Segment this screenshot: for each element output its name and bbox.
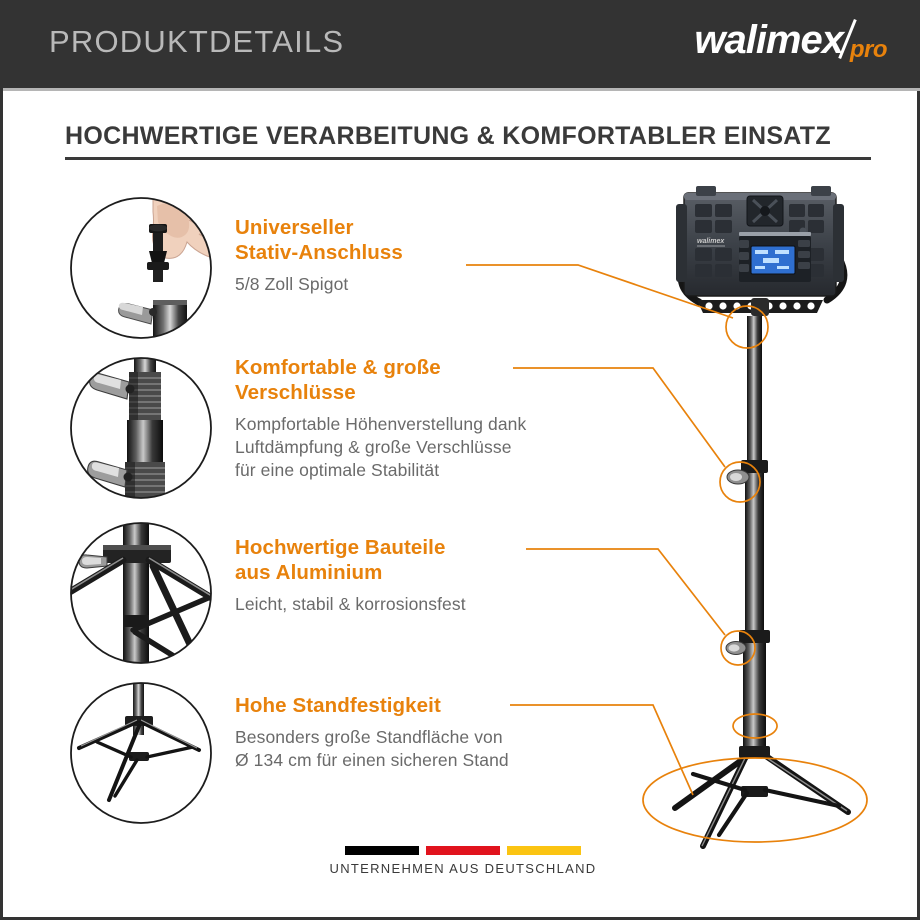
feature-body-1: 5/8 Zoll Spigot [235, 273, 635, 296]
made-in-germany-badge: UNTERNEHMEN AUS DEUTSCHLAND [3, 846, 920, 876]
column-lock-knob-lower-icon [726, 642, 746, 655]
thumb-ring-2 [71, 358, 211, 498]
flag-bar-red [426, 846, 500, 855]
section-heading: HOCHWERTIGE VERARBEITUNG & KOMFORTABLER … [65, 122, 831, 151]
highlight-ellipse-footprint [643, 758, 867, 842]
thumb-ring-4 [71, 683, 211, 823]
feature-body-3: Leicht, stabil & korrosionsfest [235, 593, 635, 616]
tripod-legs [675, 752, 848, 846]
walimex-pro-logo: walimex pro [670, 16, 885, 72]
feature-text-bauteile-aluminium: Hochwertige Bauteile aus Aluminium Leich… [235, 535, 635, 616]
feature-text-stativ-anschluss: Universeller Stativ-Anschluss 5/8 Zoll S… [235, 215, 635, 296]
svg-text:walimex: walimex [697, 238, 725, 245]
locking-knobs-photo [71, 352, 211, 506]
flag-bar-gold [507, 846, 581, 855]
german-flag-bars [3, 846, 920, 855]
led-panel-head: walimex [676, 186, 844, 316]
highlight-circle-base-collar [733, 714, 777, 738]
feature-heading-3: Hochwertige Bauteile aus Aluminium [235, 535, 635, 585]
section-heading-underline [65, 157, 871, 160]
feature-text-verschluesse: Komfortable & große Verschlüsse Kompfort… [235, 355, 635, 482]
lock-knob-lower-icon [88, 461, 133, 487]
feature-heading-1: Universeller Stativ-Anschluss [235, 215, 635, 265]
hand-holding-spigot-photo [71, 191, 225, 378]
feature-text-standfestigkeit: Hohe Standfestigkeit Besonders große Sta… [235, 693, 635, 772]
thumb-ring-1 [71, 198, 211, 338]
header-divider [3, 88, 920, 91]
page-title: PRODUKTDETAILS [49, 24, 344, 60]
feature-body-2: Kompfortable Höhenverstellung dank Luftd… [235, 413, 635, 482]
feature-body-4: Besonders große Standfläche von Ø 134 cm… [235, 726, 635, 772]
column-lock-knob-upper-icon [727, 470, 749, 484]
feature-heading-4: Hohe Standfestigkeit [235, 693, 635, 718]
lock-knob-upper-icon [90, 373, 135, 399]
tripod-base-photo [71, 675, 211, 823]
logo-walimex-text: walimex [694, 20, 843, 60]
highlight-circle-spigot [726, 306, 768, 348]
feature-heading-2: Komfortable & große Verschlüsse [235, 355, 635, 405]
thumb-ring-3 [71, 523, 211, 663]
header-bar: PRODUKTDETAILS walimex pro [3, 0, 920, 88]
highlight-circle-aluminium [721, 631, 755, 665]
logo-pro-text: pro [850, 38, 887, 62]
product-details-infographic: PRODUKTDETAILS walimex pro HOCHWERTIGE V… [0, 0, 920, 920]
footer-caption: UNTERNEHMEN AUS DEUTSCHLAND [3, 861, 920, 876]
led-panel-on-light-stand-photo: walimex [675, 186, 848, 846]
flag-bar-black [345, 846, 419, 855]
aluminium-leg-brace-photo [63, 515, 215, 672]
highlight-circle-closure [720, 462, 760, 502]
